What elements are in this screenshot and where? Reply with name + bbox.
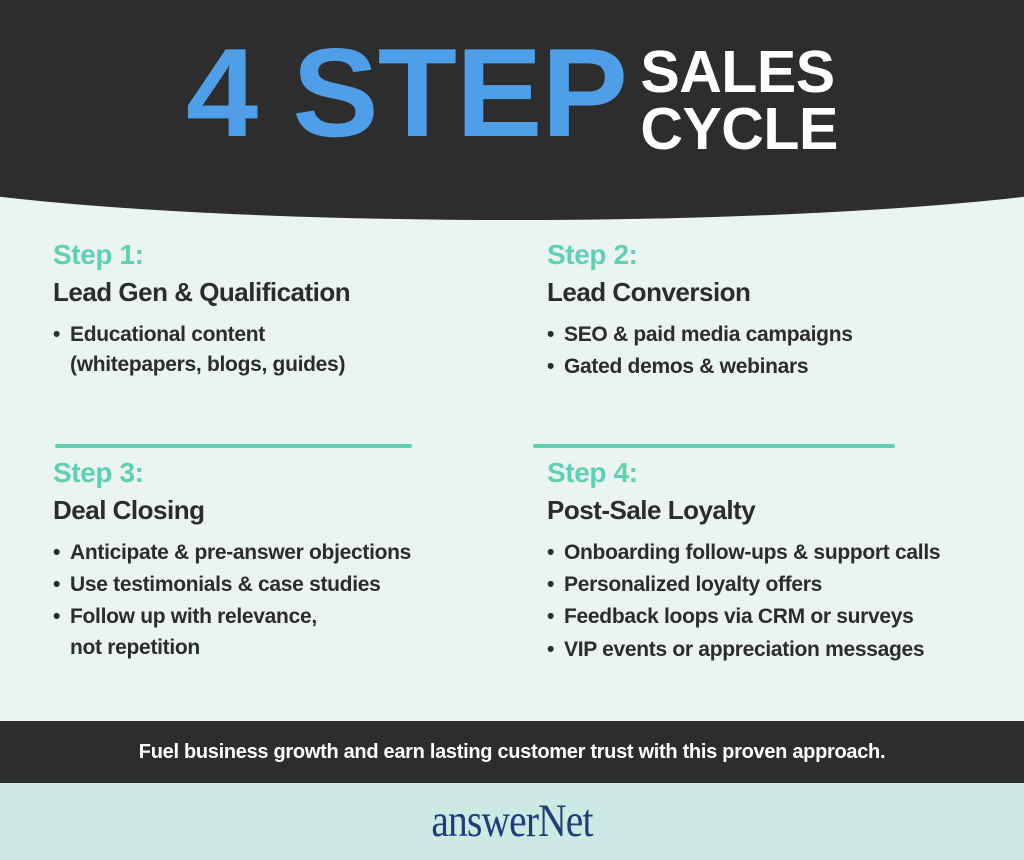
- step-1-title: Lead Gen & Qualification: [53, 278, 500, 307]
- step-4-bullet-list: Onboarding follow-ups & support calls Pe…: [547, 538, 994, 665]
- list-item: Onboarding follow-ups & support calls: [547, 538, 994, 568]
- step-4-title: Post-Sale Loyalty: [547, 496, 994, 525]
- list-item: Follow up with relevance, not repetition: [53, 602, 500, 662]
- footer-banner-text: Fuel business growth and earn lasting cu…: [139, 741, 885, 764]
- step-card-2: Step 2: Lead Conversion SEO & paid media…: [520, 240, 998, 444]
- header-banner: 4 STEP SALES CYCLE: [0, 0, 1024, 224]
- steps-grid: Step 1: Lead Gen & Qualification Educati…: [0, 240, 1024, 667]
- list-item: Gated demos & webinars: [547, 352, 994, 382]
- step-2-title: Lead Conversion: [547, 278, 994, 307]
- step-1-label: Step 1:: [53, 240, 500, 269]
- divider-right: [533, 444, 895, 448]
- list-item: SEO & paid media campaigns: [547, 320, 994, 350]
- divider-left: [55, 444, 412, 448]
- title-sub-line-1: SALES: [640, 44, 837, 101]
- step-3-label: Step 3:: [53, 458, 500, 487]
- list-item: Anticipate & pre-answer objections: [53, 538, 500, 568]
- step-3-title: Deal Closing: [53, 496, 500, 525]
- step-3-bullet-list: Anticipate & pre-answer objections Use t…: [53, 538, 500, 663]
- list-item: VIP events or appreciation messages: [547, 635, 994, 665]
- step-2-label: Step 2:: [547, 240, 994, 269]
- list-item: Educational content (whitepapers, blogs,…: [53, 320, 500, 380]
- infographic-root: 4 STEP SALES CYCLE Step 1: Lead Gen & Qu…: [0, 0, 1024, 860]
- title-main: 4 STEP: [186, 38, 627, 149]
- list-item: Personalized loyalty offers: [547, 570, 994, 600]
- list-item: Feedback loops via CRM or surveys: [547, 602, 994, 632]
- list-item: Use testimonials & case studies: [53, 570, 500, 600]
- step-card-4: Step 4: Post-Sale Loyalty Onboarding fol…: [520, 444, 998, 667]
- title-sub-line-2: CYCLE: [640, 101, 837, 158]
- footer-banner: Fuel business growth and earn lasting cu…: [0, 721, 1024, 783]
- title-sub: SALES CYCLE: [640, 38, 837, 157]
- step-card-1: Step 1: Lead Gen & Qualification Educati…: [26, 240, 504, 444]
- page-title: 4 STEP SALES CYCLE: [0, 38, 1024, 157]
- step-2-bullet-list: SEO & paid media campaigns Gated demos &…: [547, 320, 994, 382]
- step-1-bullet-list: Educational content (whitepapers, blogs,…: [53, 320, 500, 380]
- answernet-logo: answerNet: [431, 798, 592, 845]
- step-4-label: Step 4:: [547, 458, 994, 487]
- logo-area: answerNet: [0, 783, 1024, 860]
- step-card-3: Step 3: Deal Closing Anticipate & pre-an…: [26, 444, 504, 667]
